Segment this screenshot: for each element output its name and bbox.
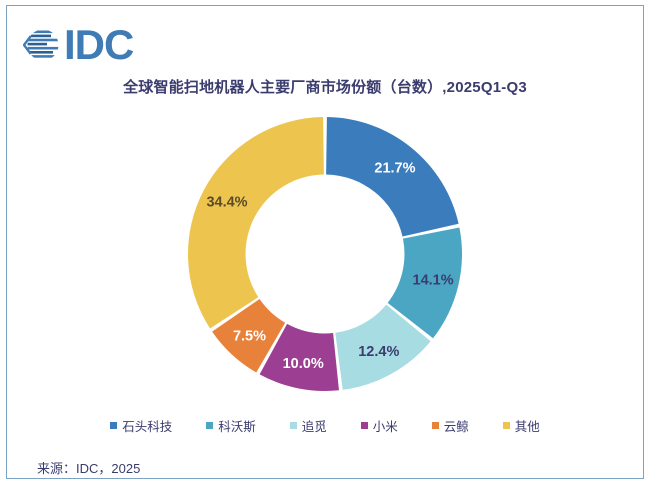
slice-value-label: 10.0% bbox=[283, 356, 324, 372]
legend-swatch-icon bbox=[503, 422, 510, 429]
legend-label: 其他 bbox=[515, 416, 540, 435]
legend-label: 云鲸 bbox=[444, 416, 469, 435]
legend-item[interactable]: 石头科技 bbox=[110, 416, 172, 435]
slice-value-label: 34.4% bbox=[206, 195, 247, 211]
infographic-screenshot: IDC 全球智能扫地机器人主要厂商市场份额（台数）,2025Q1-Q3 21.7… bbox=[0, 0, 650, 484]
slice-value-label: 21.7% bbox=[374, 161, 415, 177]
idc-globe-icon bbox=[23, 25, 63, 65]
chart-legend: 石头科技科沃斯追觅小米云鲸其他 bbox=[7, 416, 643, 435]
legend-item[interactable]: 云鲸 bbox=[432, 416, 469, 435]
page-title: 全球智能扫地机器人主要厂商市场份额（台数）,2025Q1-Q3 bbox=[7, 76, 643, 97]
legend-label: 科沃斯 bbox=[218, 416, 256, 435]
donut-chart: 21.7%14.1%12.4%10.0%7.5%34.4% bbox=[7, 104, 643, 404]
legend-swatch-icon bbox=[110, 422, 117, 429]
legend-swatch-icon bbox=[432, 422, 439, 429]
donut-slice[interactable] bbox=[188, 117, 324, 328]
legend-label: 追觅 bbox=[302, 416, 327, 435]
donut-slice[interactable] bbox=[326, 117, 459, 236]
slice-value-label: 14.1% bbox=[413, 273, 454, 289]
legend-item[interactable]: 追觅 bbox=[290, 416, 327, 435]
idc-logo-text: IDC bbox=[64, 25, 133, 65]
legend-item[interactable]: 其他 bbox=[503, 416, 540, 435]
legend-item[interactable]: 科沃斯 bbox=[206, 416, 256, 435]
legend-label: 小米 bbox=[373, 416, 398, 435]
slice-value-label: 12.4% bbox=[358, 344, 399, 360]
legend-label: 石头科技 bbox=[122, 416, 172, 435]
legend-item[interactable]: 小米 bbox=[361, 416, 398, 435]
donut-chart-svg: 21.7%14.1%12.4%10.0%7.5%34.4% bbox=[165, 104, 485, 404]
slice-value-label: 7.5% bbox=[233, 329, 266, 345]
idc-logo: IDC bbox=[23, 22, 133, 68]
source-note: 来源：IDC，2025 bbox=[37, 458, 140, 477]
legend-swatch-icon bbox=[290, 422, 297, 429]
legend-swatch-icon bbox=[206, 422, 213, 429]
legend-swatch-icon bbox=[361, 422, 368, 429]
chart-card: IDC 全球智能扫地机器人主要厂商市场份额（台数）,2025Q1-Q3 21.7… bbox=[6, 5, 644, 479]
